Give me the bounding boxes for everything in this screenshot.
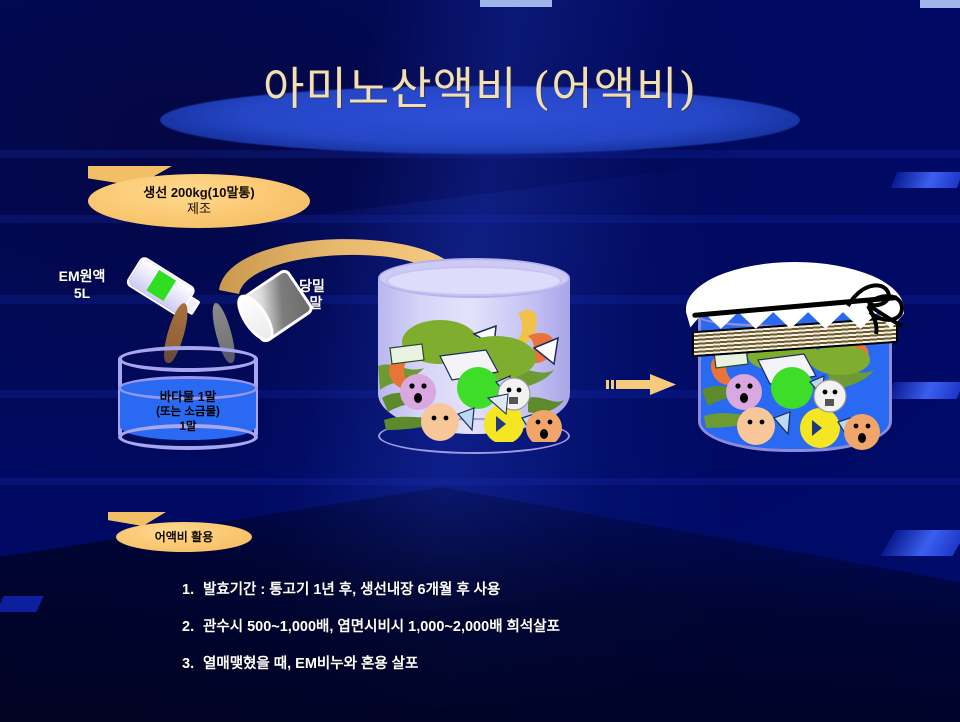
callout-fish-quantity: 생선 200kg(10말통) 제조 bbox=[88, 166, 310, 228]
callout-usage: 어액비 활용 bbox=[108, 512, 254, 556]
tub-label-line1: 바다물 1말 bbox=[118, 390, 258, 405]
bottle-icon bbox=[125, 255, 206, 323]
note-number: 2. bbox=[182, 609, 199, 646]
callout-bubble: 생선 200kg(10말통) 제조 bbox=[88, 174, 310, 228]
accent-dash-top-right bbox=[920, 0, 960, 8]
note-number: 3. bbox=[182, 646, 199, 683]
right-arrow-icon bbox=[606, 372, 678, 396]
background-band bbox=[0, 478, 960, 485]
fish-icon bbox=[771, 367, 813, 409]
arrow-tail-dash bbox=[606, 380, 609, 389]
arrow-head bbox=[650, 374, 676, 395]
tub-label: 바다물 1말 (또는 소금물) 1말 bbox=[118, 390, 258, 435]
fish-icon bbox=[400, 374, 436, 410]
fish-icon bbox=[421, 403, 459, 441]
tub-label-line3: 1말 bbox=[118, 420, 258, 435]
jar-icon bbox=[686, 262, 904, 458]
title-block: 아미노산액비 (어액비) bbox=[160, 58, 800, 154]
tub-label-line2: (또는 소금물) bbox=[118, 405, 258, 420]
accent-dash-top-left bbox=[480, 0, 552, 7]
tub-icon: 바다물 1말 (또는 소금물) 1말 bbox=[118, 346, 258, 458]
fish-icon bbox=[726, 374, 762, 410]
fish-icon bbox=[810, 345, 870, 375]
callout-line-1: 생선 200kg(10말통) bbox=[143, 185, 254, 201]
barrel-inner-surface bbox=[386, 266, 562, 296]
arrow-tail-dash bbox=[611, 380, 614, 389]
callout-line-2: 제조 bbox=[187, 201, 211, 217]
slide-canvas: 아미노산액비 (어액비) 생선 200kg(10말통) 제조 EM원액 5L 당… bbox=[0, 0, 960, 722]
accent-dash-left-lower bbox=[0, 596, 44, 612]
note-item: 2. 관수시 500~1,000배, 엽면시비시 1,000~2,000배 희석… bbox=[182, 609, 822, 646]
callout-bubble: 어액비 활용 bbox=[116, 522, 252, 552]
accent-dash-right-upper bbox=[891, 172, 960, 188]
note-text: 관수시 500~1,000배, 엽면시비시 1,000~2,000배 희석살포 bbox=[203, 619, 560, 635]
note-item: 3. 열매맺혔을 때, EM비누와 혼용 살포 bbox=[182, 646, 822, 683]
page-title: 아미노산액비 (어액비) bbox=[160, 58, 800, 120]
fish-icon bbox=[814, 380, 846, 412]
arrow-shaft bbox=[616, 380, 650, 389]
string-bow-icon bbox=[844, 278, 910, 336]
note-number: 1. bbox=[182, 572, 199, 609]
notes-list: 1. 발효기간 : 통고기 1년 후, 생선내장 6개월 후 사용 2. 관수시… bbox=[182, 572, 822, 683]
barrel-icon bbox=[378, 258, 570, 454]
fish-pile-group bbox=[378, 302, 570, 442]
fish-fin-icon bbox=[774, 412, 790, 434]
fish-icon bbox=[844, 414, 880, 450]
note-item: 1. 발효기간 : 통고기 1년 후, 생선내장 6개월 후 사용 bbox=[182, 572, 822, 609]
note-text: 열매맺혔을 때, EM비누와 혼용 살포 bbox=[203, 656, 418, 672]
note-text: 발효기간 : 통고기 1년 후, 생선내장 6개월 후 사용 bbox=[203, 582, 500, 598]
fish-icon bbox=[737, 407, 775, 445]
fish-fin-icon bbox=[458, 408, 474, 430]
accent-dash-right-lower bbox=[880, 530, 960, 556]
fish-icon bbox=[390, 344, 424, 364]
callout-usage-label: 어액비 활용 bbox=[155, 530, 214, 544]
